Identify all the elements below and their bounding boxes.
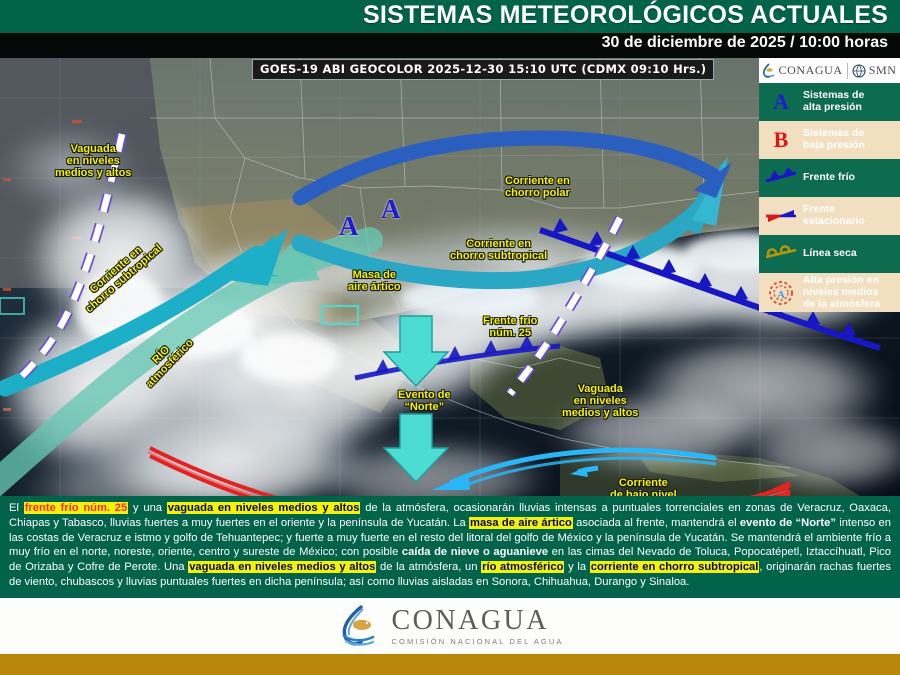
legend-high-pressure-a-icon: A — [759, 87, 803, 117]
legend-item-label: Sistemas de alta presión — [803, 90, 867, 114]
smn-logo-small: SMN — [852, 63, 897, 78]
ft-h: y la — [564, 561, 589, 573]
footer-gold-bar — [0, 654, 900, 675]
legend-item-label: Frente estacionario — [803, 204, 868, 228]
legend-alta-niveles-medios-icon: A — [759, 278, 803, 308]
ft-hl-chorro-subtropical: corriente en chorro subtropical — [590, 561, 760, 573]
ft-hl-vaguada-1: vaguada en niveles medios y altos — [167, 502, 361, 514]
legend-item-alta-niveles-medios: AAlta presión en niveles medios de la at… — [759, 273, 900, 312]
stationary-front-icon — [764, 206, 798, 226]
ft-wb-nieve: caída de nieve o aguanieve — [402, 546, 548, 558]
footer-brand-name: CONAGUA — [392, 607, 564, 635]
legend-frente-estacionario-icon — [759, 201, 803, 231]
svg-text:A: A — [777, 289, 785, 301]
legend-symbol-b: B — [774, 127, 789, 153]
legend-conagua-label: CONAGUA — [778, 63, 842, 78]
ft-hl-vaguada-2: vaguada en niveles medios y altos — [188, 561, 376, 573]
ft-hl-masa-artico: masa de aire ártico — [469, 517, 573, 529]
legend-item-frente-estacionario: Frente estacionario — [759, 197, 900, 235]
legend-item-label: Línea seca — [803, 248, 860, 260]
legend-item-frente-frio: Frente frío — [759, 159, 900, 197]
satellite-caption: GOES-19 ABI GEOCOLOR 2025-12-30 15:10 UT… — [252, 59, 714, 80]
page-title: SISTEMAS METEOROLÓGICOS ACTUALES — [363, 1, 888, 30]
footer-subtitle: COMISIÓN NACIONAL DEL AGUA — [392, 637, 564, 646]
forecast-text: El frente frío núm. 25 y una vaguada en … — [0, 496, 900, 598]
cold-front-icon — [764, 168, 798, 188]
footer-text: CONAGUA COMISIÓN NACIONAL DEL AGUA — [392, 607, 564, 646]
dry-line-icon — [764, 244, 798, 264]
legend-item-B: BSistemas de baja presión — [759, 121, 900, 159]
legend-item-label: Sistemas de baja presión — [803, 128, 868, 152]
conagua-drop-icon — [762, 63, 775, 79]
ft-g: de la atmósfera, un — [376, 561, 481, 573]
legend-smn-label: SMN — [869, 63, 897, 78]
legend-item-A: ASistemas de alta presión — [759, 83, 900, 121]
legend-divider — [847, 63, 848, 79]
footer-brand: CONAGUA COMISIÓN NACIONAL DEL AGUA — [0, 598, 900, 654]
ft-hl-rio-atmosferico: río atmosférico — [481, 561, 564, 573]
conagua-logo-small: CONAGUA — [762, 63, 842, 79]
upper-high-icon: A — [764, 280, 798, 306]
legend-low-pressure-b-icon: B — [759, 125, 803, 155]
smn-globe-icon — [852, 64, 866, 78]
conagua-logo-icon — [337, 603, 383, 649]
legend-frente-frio-icon — [759, 163, 803, 193]
map-symbol-alta-presion-a-2: A — [381, 194, 401, 225]
weather-bulletin-page: SISTEMAS METEOROLÓGICOS ACTUALES 30 de d… — [0, 0, 900, 675]
legend-linea-seca-icon — [759, 239, 803, 269]
ft-d: asociada al frente, mantendrá el — [573, 517, 740, 529]
legend-logos: CONAGUA SMN — [759, 58, 900, 83]
ft-wb-norte: evento de “Norte” — [740, 517, 836, 529]
map-symbol-alta-presion-a-1: A — [339, 211, 359, 242]
bulletin-date: 30 de diciembre de 2025 / 10:00 horas — [602, 34, 888, 52]
legend-item-label: Frente frío — [803, 172, 858, 184]
legend-item-linea-seca: Línea seca — [759, 235, 900, 273]
legend-panel: CONAGUA SMN ASistemas de alta presiónBSi… — [759, 58, 900, 312]
legend-symbol-a: A — [773, 89, 789, 115]
ft-hl-frente-frio: frente frío núm. 25 — [24, 502, 129, 514]
ft-b: y una — [128, 502, 167, 514]
ft-a: El — [9, 502, 24, 514]
legend-item-label: Alta presión en niveles medios de la atm… — [803, 275, 883, 310]
